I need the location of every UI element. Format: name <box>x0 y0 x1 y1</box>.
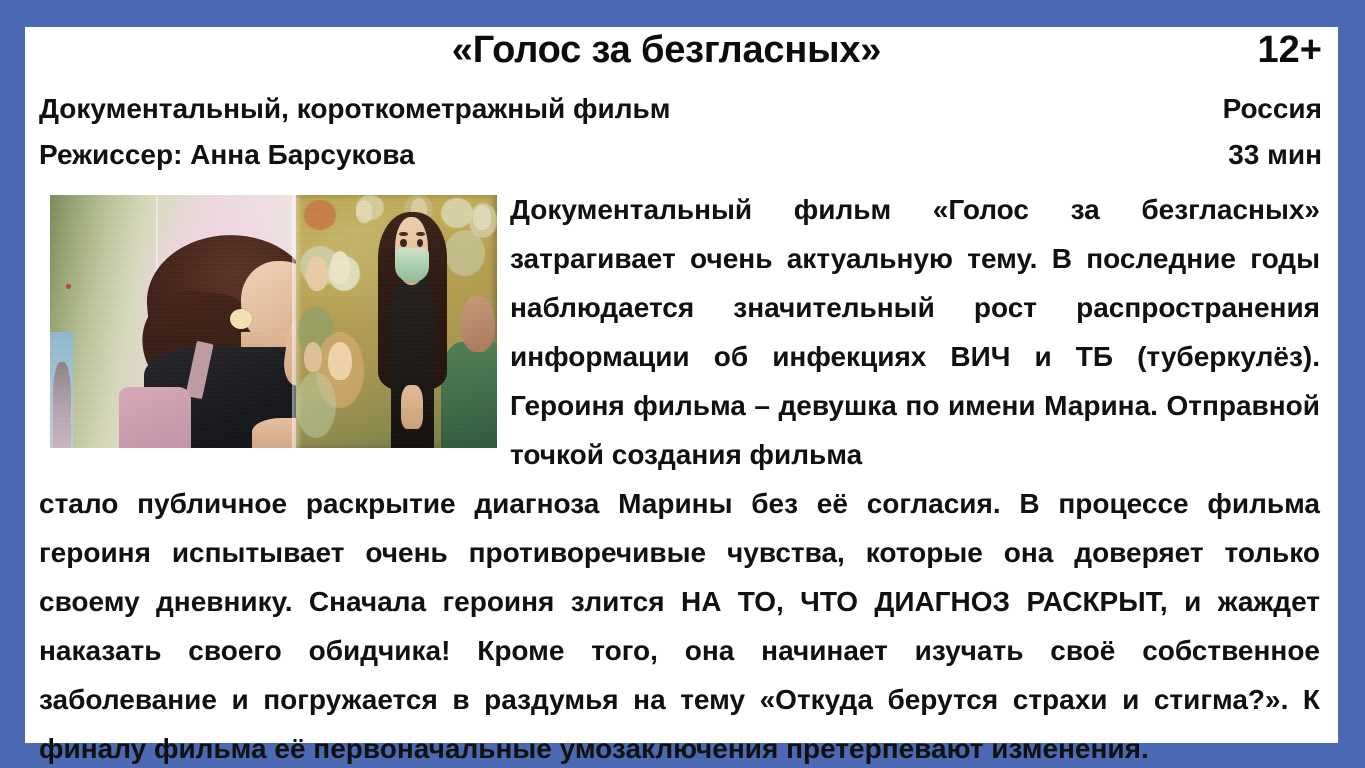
film-genre-label: Документальный, короткометражный фильм <box>39 93 670 125</box>
meta-row-genre-country: Документальный, короткометражный фильм Р… <box>39 93 1322 125</box>
painting-blob <box>296 372 336 438</box>
description-text-main: стало публичное раскрытие диагноза Марин… <box>39 488 1320 715</box>
gallery-painting <box>296 195 497 448</box>
slide-canvas: «Голос за безгласных» 12+ Документальный… <box>0 0 1365 768</box>
painted-face <box>356 200 372 223</box>
description-paragraph-bottom: стало публичное раскрытие диагноза Марин… <box>39 479 1320 768</box>
painted-face <box>328 342 352 380</box>
painted-girl-eye <box>400 239 407 247</box>
painted-face <box>304 342 322 372</box>
film-country-label: Россия <box>1223 93 1322 125</box>
painted-face <box>473 205 491 230</box>
painted-man-green-coat <box>441 342 497 448</box>
painting-blob <box>445 230 485 276</box>
painted-girl-medical-mask <box>395 248 429 282</box>
background-visitor <box>53 362 71 448</box>
meta-row-director-duration: Режиссер: Анна Барсукова 33 мин <box>39 139 1322 171</box>
description-text-final: финалу фильма её первоначальные умозаклю… <box>39 733 1149 764</box>
film-still-photo <box>50 195 497 448</box>
painted-face <box>306 256 328 291</box>
painted-girl-hands <box>401 385 423 428</box>
description-paragraph-top: Документальный фильм «Голос за безгласны… <box>510 185 1320 479</box>
page-title: «Голос за безгласных» <box>25 29 1308 72</box>
photo-composition <box>50 195 497 448</box>
age-rating-badge: 12+ <box>1258 29 1322 72</box>
wall-red-marker <box>66 284 71 289</box>
painted-man-head <box>461 296 495 352</box>
woman-pink-bag <box>119 387 191 448</box>
painted-face <box>330 251 350 284</box>
film-director-label: Режиссер: Анна Барсукова <box>39 139 415 171</box>
film-duration-label: 33 мин <box>1228 139 1322 171</box>
painting-blob <box>304 200 336 230</box>
slide-content-panel: «Голос за безгласных» 12+ Документальный… <box>25 27 1338 743</box>
painted-masked-girl <box>376 208 448 448</box>
